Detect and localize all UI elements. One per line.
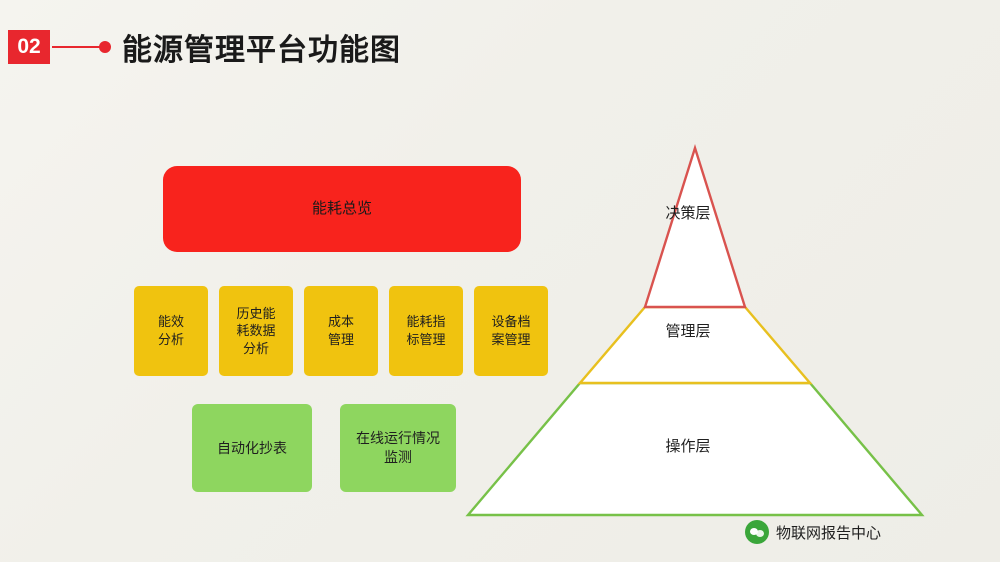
pyramid-label-bottom: 操作层 xyxy=(645,435,731,456)
header-connector-line xyxy=(52,46,100,48)
function-block-yellow-4: 能耗指标管理 xyxy=(389,286,463,376)
function-block-yellow-1: 能效分析 xyxy=(134,286,208,376)
header-connector-dot xyxy=(99,41,111,53)
pyramid-layer-top xyxy=(645,148,745,307)
pyramid-layer-middle xyxy=(580,307,810,383)
function-block-green-1: 自动化抄表 xyxy=(192,404,312,492)
function-block-yellow-3: 成本管理 xyxy=(304,286,378,376)
pyramid-label-middle: 管理层 xyxy=(645,320,731,341)
brand-name: 物联网报告中心 xyxy=(776,522,881,543)
function-block-green-2: 在线运行情况监测 xyxy=(340,404,456,492)
slide-header: 02 能源管理平台功能图 xyxy=(0,0,1000,90)
function-block-yellow-2: 历史能耗数据分析 xyxy=(219,286,293,376)
slide-canvas: 02 能源管理平台功能图 能耗总览 能效分析 历史能耗数据分析 成本管理 能耗指… xyxy=(0,0,1000,562)
wechat-icon xyxy=(745,520,769,544)
section-number-badge: 02 xyxy=(8,30,50,64)
pyramid-diagram: 决策层 管理层 操作层 xyxy=(455,130,945,530)
page-title: 能源管理平台功能图 xyxy=(122,25,401,69)
brand-watermark: 物联网报告中心 xyxy=(745,520,881,544)
pyramid-label-top: 决策层 xyxy=(645,202,731,223)
